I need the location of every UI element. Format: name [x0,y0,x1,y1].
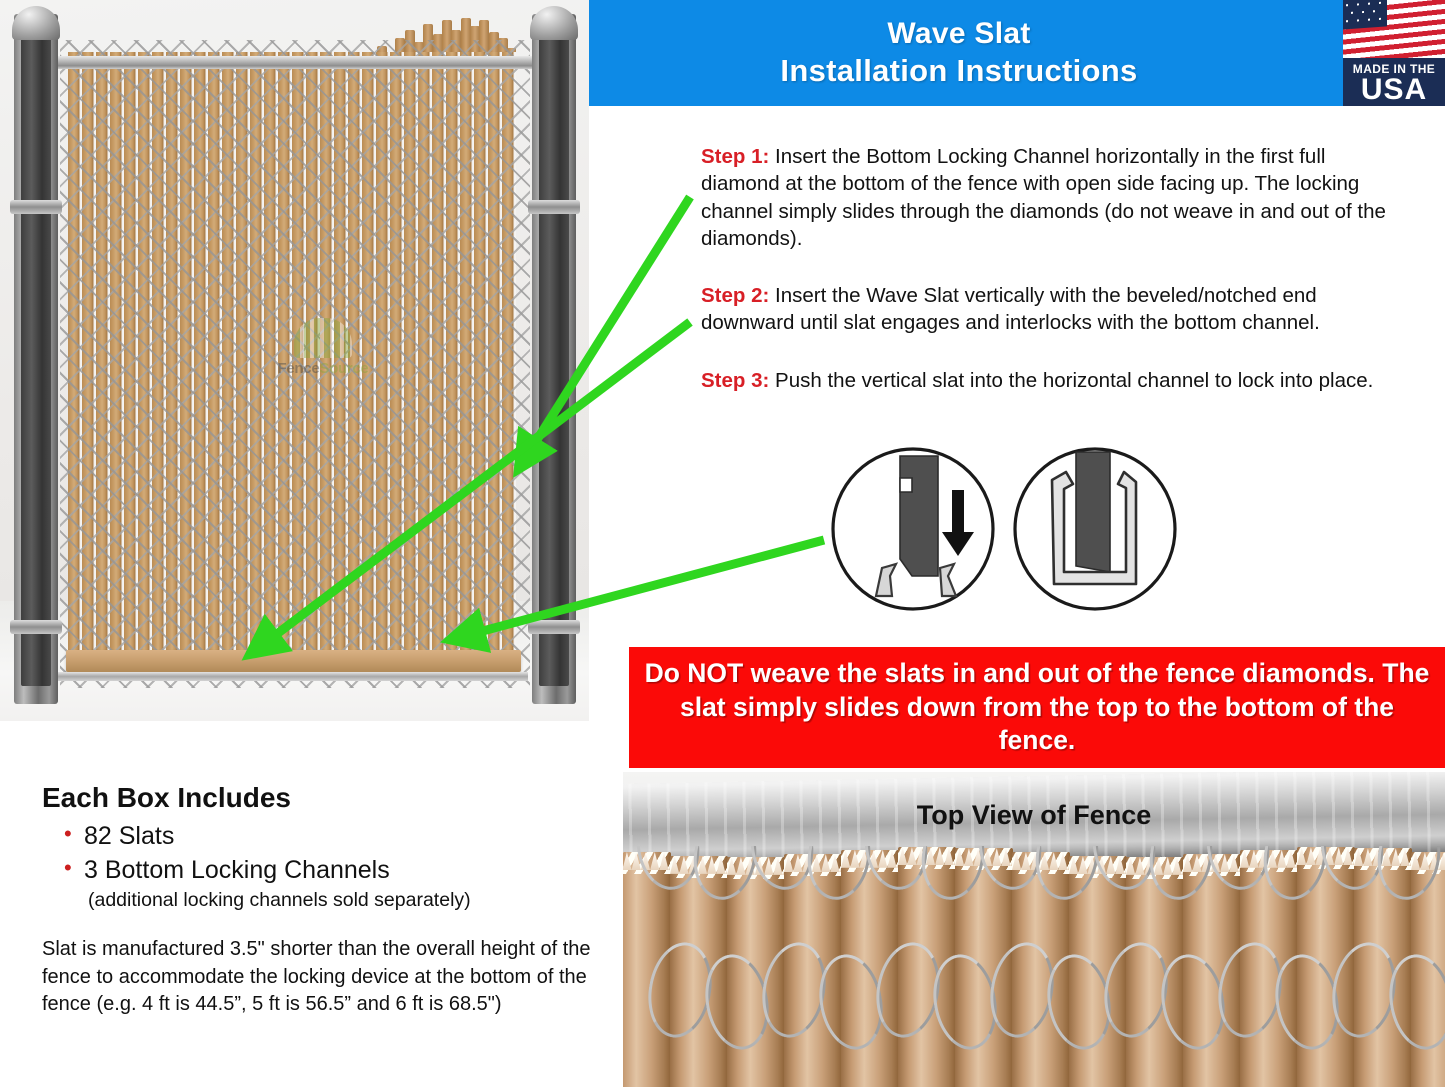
box-contents-list: 82 Slats 3 Bottom Locking Channels [64,820,602,887]
post-band-left-top [10,200,62,214]
post-band-right-bottom [528,620,580,634]
bottom-locking-channel [66,650,521,672]
post-cap-left-icon [12,6,60,40]
fence-installation-photo: FenceSource [0,0,589,721]
step-3-text: Push the vertical slat into the horizont… [769,369,1373,392]
warning-banner: Do NOT weave the slats in and out of the… [629,647,1445,768]
page-title-line2: Installation Instructions [780,53,1137,89]
fence-bottom-rail [56,672,528,681]
each-box-includes-section: Each Box Includes 82 Slats 3 Bottom Lock… [42,782,602,1019]
badge-line2: USA [1343,76,1445,105]
slat-locked-in-channel-diagram [1015,449,1175,609]
badge-text-group: MADE IN THE USA [1343,62,1445,105]
top-view-label: Top View of Fence [623,800,1445,831]
post-cap-right-icon [530,6,578,40]
post-band-left-bottom [10,620,62,634]
top-view-fence-photo: Top View of Fence FenceSource [623,772,1445,1087]
step-3-label: Step 3: [701,369,769,392]
list-item: 3 Bottom Locking Channels [64,854,602,888]
header-title-group: Wave Slat Installation Instructions [589,0,1329,106]
fence-top-rail [40,56,540,69]
locking-mechanism-diagrams [830,444,1180,614]
us-flag-icon [1343,0,1445,58]
made-in-usa-badge: MADE IN THE USA [1343,0,1445,106]
step-1-label: Step 1: [701,145,769,168]
flag-stars [1343,0,1387,30]
step-2-label: Step 2: [701,284,769,307]
locking-channel-note: (additional locking channels sold separa… [88,889,602,912]
fence-post-left-shadow [21,14,51,686]
warning-text: Do NOT weave the slats in and out of the… [629,657,1445,758]
infographic-page: FenceSource Wave Slat Installation Instr… [0,0,1445,1087]
header-banner: Wave Slat Installation Instructions MADE… [589,0,1445,106]
step-instructions: Step 1: Insert the Bottom Locking Channe… [701,143,1391,416]
chain-link-mesh [60,40,530,688]
each-box-includes-title: Each Box Includes [42,782,602,814]
top-view-slat-row [623,846,1445,1087]
step-2: Step 2: Insert the Wave Slat vertically … [701,282,1391,337]
step-2-text: Insert the Wave Slat vertically with the… [701,284,1320,334]
step-3: Step 3: Push the vertical slat into the … [701,367,1391,394]
step-1: Step 1: Insert the Bottom Locking Channe… [701,143,1391,252]
slat-dimension-paragraph: Slat is manufactured 3.5" shorter than t… [42,936,602,1019]
page-title-line1: Wave Slat [887,17,1030,51]
step-1-text: Insert the Bottom Locking Channel horizo… [701,145,1386,250]
flag-canton [1343,0,1387,30]
list-item: 82 Slats [64,820,602,854]
fence-post-right-shadow [539,14,569,686]
post-band-right-top [528,200,580,214]
slat-inserting-down-diagram [833,449,993,609]
